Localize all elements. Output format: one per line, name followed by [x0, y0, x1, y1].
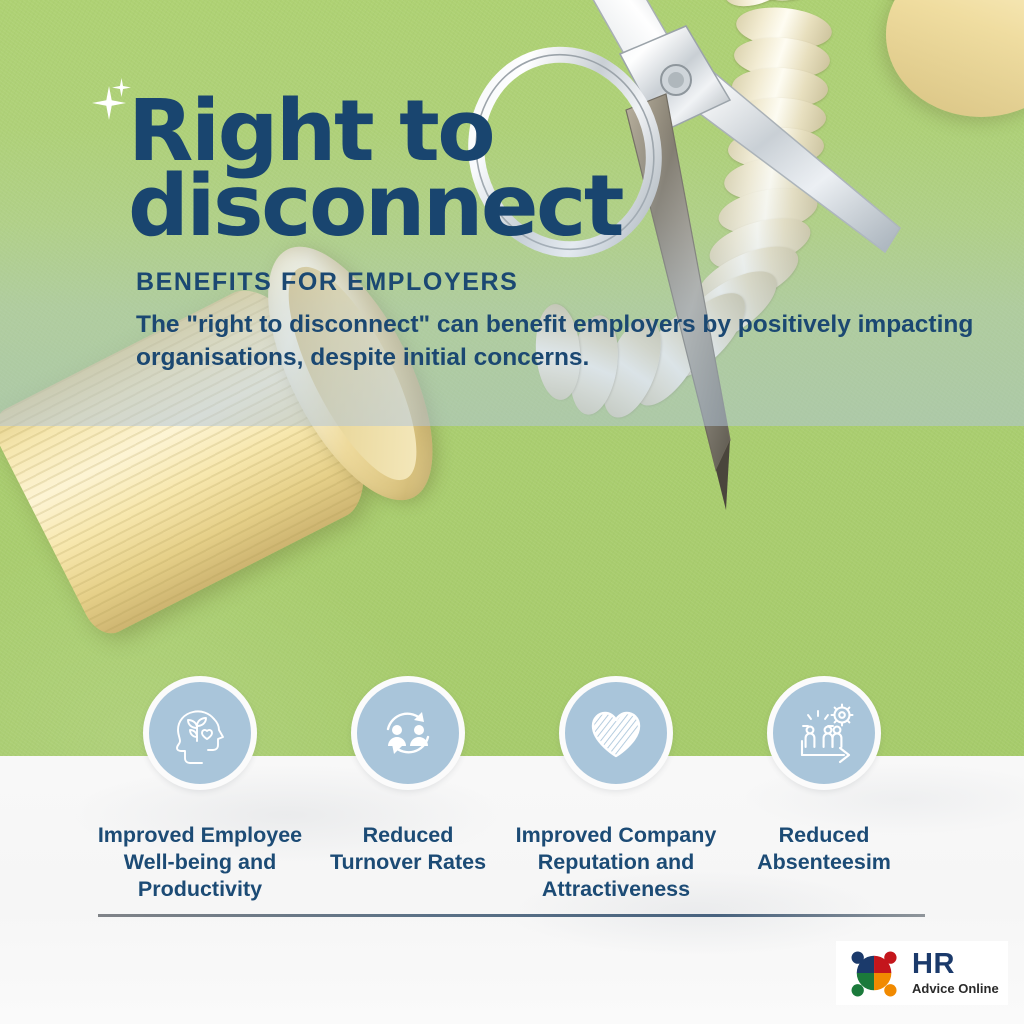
people-turnover-cycle-icon [374, 699, 442, 767]
benefit-label: Improved Company Reputation and Attracti… [516, 822, 717, 903]
logo-text-block: HR Advice Online [912, 950, 999, 996]
page-title-line2: disconnect [128, 167, 958, 246]
four-quadrant-circle-icon [846, 948, 904, 998]
people-progress-gear-icon [790, 699, 858, 767]
benefit-item: Improved Employee Well-being and Product… [96, 676, 304, 903]
benefit-icon-bubble [767, 676, 881, 790]
head-plant-heart-icon [166, 699, 234, 767]
benefit-icon-bubble [559, 676, 673, 790]
infographic-canvas: Right to disconnect BENEFITS FOR EMPLOYE… [0, 0, 1024, 1024]
lede-paragraph: The "right to disconnect" can benefit em… [136, 308, 981, 375]
logo-tagline: Advice Online [912, 982, 999, 996]
footer-divider [98, 914, 925, 917]
benefit-item: Improved Company Reputation and Attracti… [512, 676, 720, 903]
benefit-icon-bubble [351, 676, 465, 790]
benefit-item: Reduced Turnover Rates [304, 676, 512, 876]
benefits-row: Improved Employee Well-being and Product… [96, 676, 928, 903]
benefit-label: Reduced Absenteesim [757, 822, 891, 876]
headline-block: Right to disconnect BENEFITS FOR EMPLOYE… [128, 92, 958, 375]
section-eyebrow: BENEFITS FOR EMPLOYERS [136, 268, 958, 297]
logo-name: HR [912, 950, 999, 979]
benefit-icon-bubble [143, 676, 257, 790]
hr-advice-online-logo[interactable]: HR Advice Online [836, 941, 1008, 1005]
sketched-heart-icon [582, 699, 650, 767]
benefit-item: Reduced Absenteesim [720, 676, 928, 876]
benefit-label: Improved Employee Well-being and Product… [98, 822, 302, 903]
benefit-label: Reduced Turnover Rates [330, 822, 486, 876]
